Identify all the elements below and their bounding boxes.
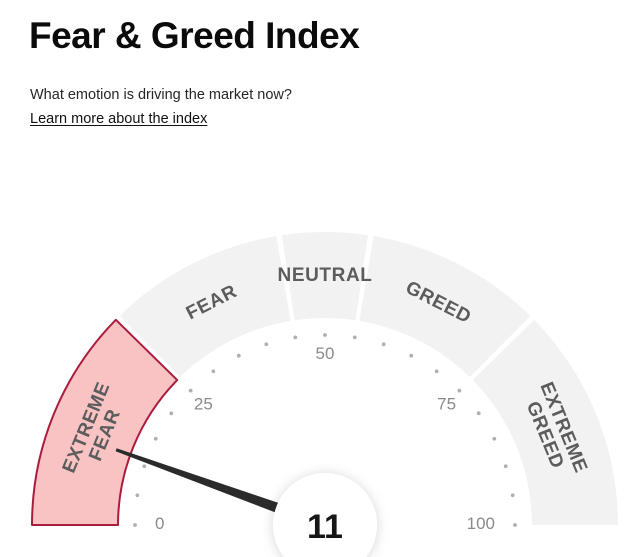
page-subtitle: What emotion is driving the market now? bbox=[30, 86, 292, 105]
gauge-minor-tick bbox=[142, 464, 146, 468]
gauge-tick-label: 50 bbox=[316, 344, 335, 363]
learn-more-link[interactable]: Learn more about the index bbox=[30, 110, 207, 129]
gauge-minor-tick bbox=[323, 333, 327, 337]
gauge-minor-tick bbox=[409, 354, 413, 358]
gauge-minor-tick bbox=[264, 342, 268, 346]
gauge-minor-tick bbox=[382, 342, 386, 346]
gauge-value: 11 bbox=[307, 508, 343, 546]
gauge-tick-label: 100 bbox=[467, 514, 495, 533]
gauge-tick-label: 0 bbox=[155, 514, 164, 533]
gauge-minor-tick bbox=[237, 354, 241, 358]
gauge-minor-tick bbox=[211, 369, 215, 373]
gauge-minor-tick bbox=[189, 389, 193, 393]
gauge-minor-tick bbox=[492, 437, 496, 441]
page-title: Fear & Greed Index bbox=[29, 14, 359, 58]
gauge-minor-tick bbox=[135, 493, 139, 497]
gauge-minor-tick bbox=[457, 389, 461, 393]
gauge-svg: EXTREMEFEARFEARNEUTRALGREEDEXTREMEGREED … bbox=[0, 150, 635, 557]
gauge-minor-tick bbox=[133, 523, 137, 527]
gauge-tick-label: 25 bbox=[194, 394, 213, 413]
gauge-minor-tick bbox=[477, 411, 481, 415]
gauge-minor-tick bbox=[169, 411, 173, 415]
gauge-minor-tick bbox=[293, 335, 297, 339]
gauge-segment-label: NEUTRAL bbox=[278, 265, 373, 286]
gauge-minor-tick bbox=[353, 335, 357, 339]
gauge-minor-tick bbox=[435, 369, 439, 373]
gauge-minor-tick bbox=[513, 523, 517, 527]
fear-greed-gauge: EXTREMEFEARFEARNEUTRALGREEDEXTREMEGREED … bbox=[0, 150, 635, 557]
gauge-minor-tick bbox=[504, 464, 508, 468]
gauge-tick-label: 75 bbox=[437, 394, 456, 413]
gauge-minor-tick bbox=[511, 493, 515, 497]
gauge-minor-tick bbox=[154, 437, 158, 441]
